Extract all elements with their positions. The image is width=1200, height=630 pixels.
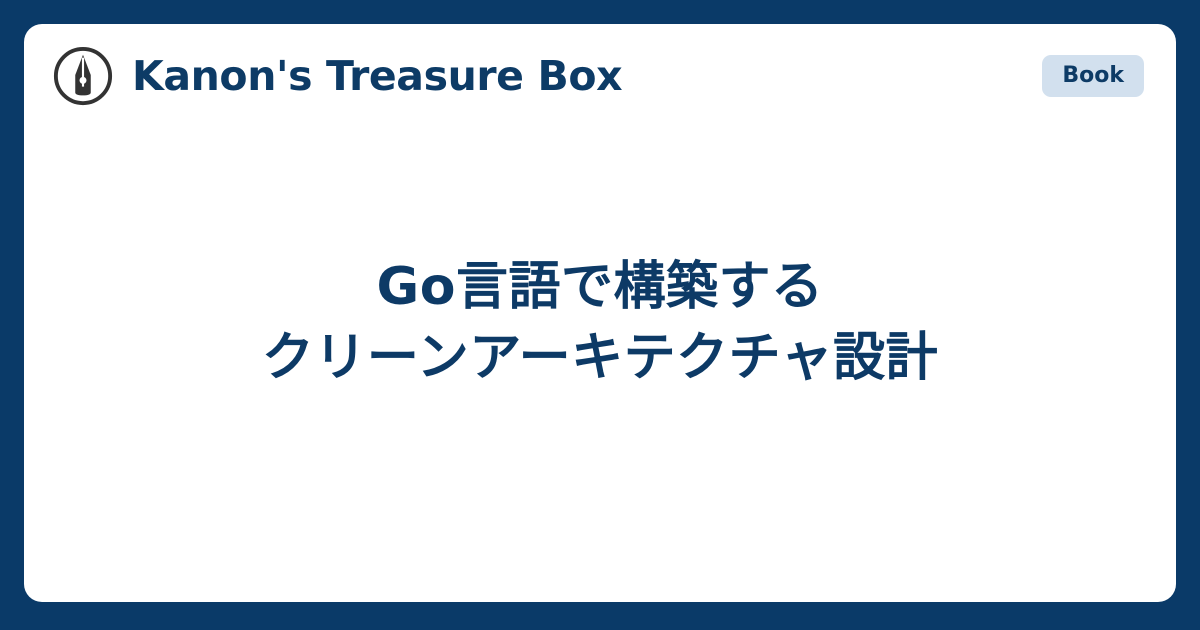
page-title-line-1: Go言語で構築する — [262, 252, 938, 323]
card-header: Kanon's Treasure Box Book — [24, 24, 1176, 128]
site-name: Kanon's Treasure Box — [132, 56, 622, 97]
page-title: Go言語で構築する クリーンアーキテクチャ設計 — [262, 252, 938, 393]
brand: Kanon's Treasure Box — [52, 45, 622, 107]
pen-nib-circle-icon — [52, 45, 114, 107]
og-card-root: Kanon's Treasure Box Book Go言語で構築する クリーン… — [0, 0, 1200, 630]
status-badge: Book — [1042, 55, 1144, 97]
card-body: Go言語で構築する クリーンアーキテクチャ設計 — [24, 128, 1176, 602]
page-title-line-2: クリーンアーキテクチャ設計 — [262, 323, 938, 394]
content-card: Kanon's Treasure Box Book Go言語で構築する クリーン… — [24, 24, 1176, 602]
